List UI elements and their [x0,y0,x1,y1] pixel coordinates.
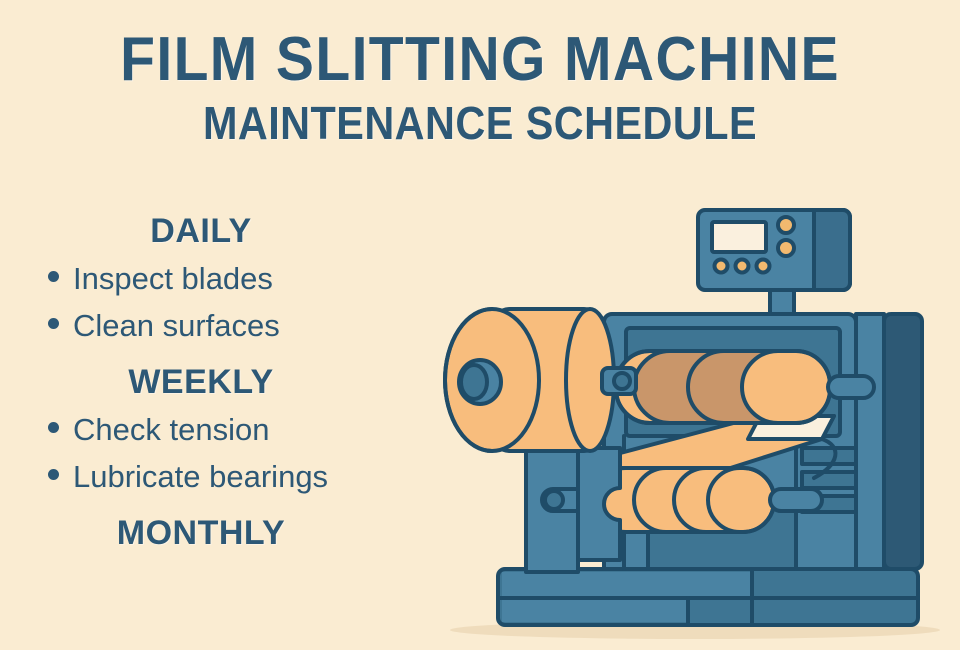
list-item: Inspect blades [26,255,436,302]
list-item-label: Lubricate bearings [73,453,328,500]
schedule-items-daily: Inspect blades Clean surfaces [26,255,436,349]
film-roll [445,309,614,451]
base-plate-top-left [502,572,752,597]
knob-small-3 [757,260,770,273]
bullet-icon [48,318,59,329]
list-item: Lubricate bearings [26,453,436,500]
infographic-poster: FILM SLITTING MACHINE MAINTENANCE SCHEDU… [0,0,960,650]
list-item-label: Check tension [73,406,269,453]
list-item: Clean surfaces [26,302,436,349]
schedule-group-monthly: MONTHLY [26,514,436,553]
base-plate-lower-strip [502,600,687,622]
lower-roller-bearing [545,491,563,509]
frame-right-column-dark [884,314,922,569]
schedule-heading-monthly: MONTHLY [26,514,436,553]
bullet-icon [48,469,59,480]
list-item-label: Inspect blades [73,255,273,302]
schedule-group-daily: DAILY Inspect blades Clean surfaces [26,212,436,349]
frame-slat-2 [802,472,856,488]
knob-large-bottom [778,240,794,256]
schedule-heading-daily: DAILY [26,212,436,251]
frame-slat-1 [802,448,856,464]
roll-axle-cap [614,373,630,389]
bullet-icon [48,271,59,282]
page-subtitle: MAINTENANCE SCHEDULE [48,98,912,148]
control-panel-side [814,210,850,290]
knob-small-1 [715,260,728,273]
maintenance-schedule: DAILY Inspect blades Clean surfaces WEEK… [26,212,436,557]
frame-right-column-light [856,314,884,569]
list-item-label: Clean surfaces [73,302,280,349]
knob-small-2 [736,260,749,273]
film-roll-hub [461,365,487,399]
schedule-group-weekly: WEEKLY Check tension Lubricate bearings [26,363,436,500]
title-block: FILM SLITTING MACHINE MAINTENANCE SCHEDU… [0,28,960,148]
lower-roller-shaft-right [770,489,822,511]
display-screen [712,222,766,252]
page-title: FILM SLITTING MACHINE [38,28,921,92]
knob-large-top [778,217,794,233]
list-item: Check tension [26,406,436,453]
upper-roller-shaft-right [828,376,874,398]
film-slitting-machine-illustration [430,196,960,650]
schedule-items-weekly: Check tension Lubricate bearings [26,406,436,500]
bullet-icon [48,422,59,433]
schedule-heading-weekly: WEEKLY [26,363,436,402]
